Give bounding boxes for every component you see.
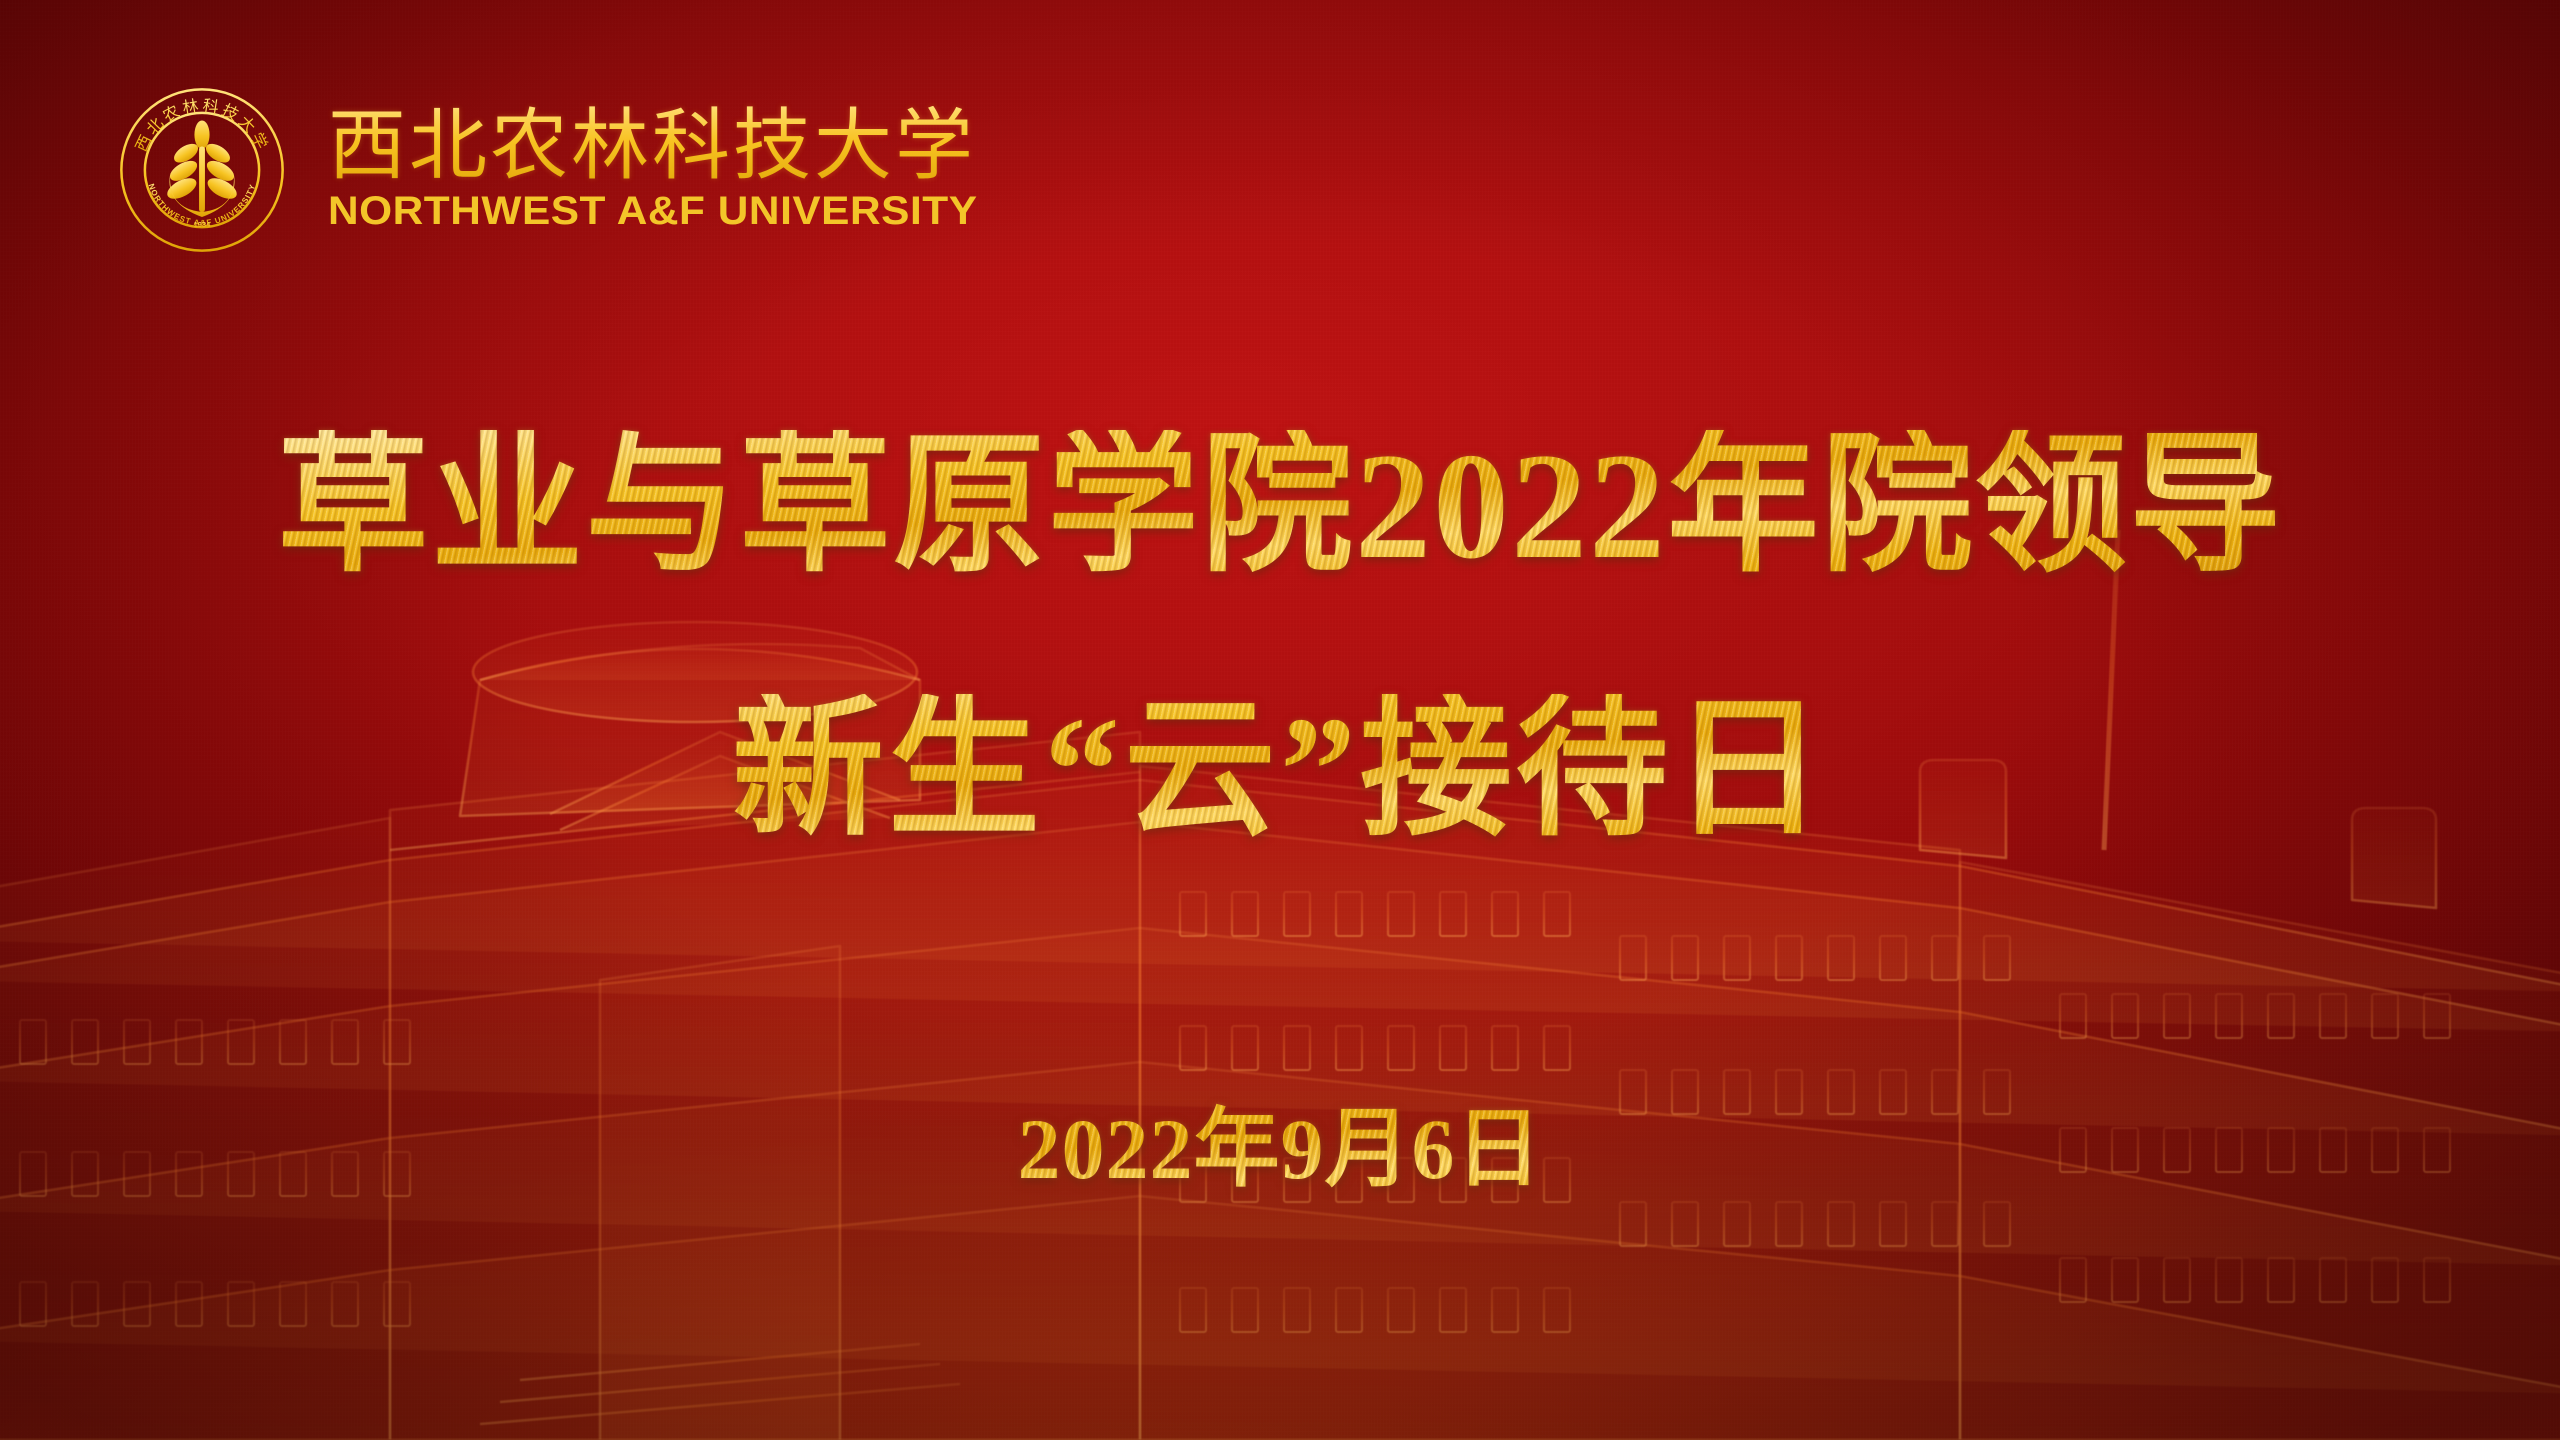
title-line-2: 新生“云”接待日 <box>0 694 2560 846</box>
university-name-en: NORTHWEST A&F UNIVERSITY <box>328 189 1015 234</box>
title-block: 草业与草原学院2022年院领导 新生“云”接待日 <box>0 430 2560 846</box>
svg-text:1934: 1934 <box>194 220 212 229</box>
university-name-block: 西北农林科技大学 NORTHWEST A&F UNIVERSITY <box>328 106 976 235</box>
university-seal-icon: 西北农林科技大学 NORTHWEST A&F UNIVERSITY 1934 <box>118 86 286 254</box>
university-name-cn: 西北农林科技大学 <box>328 106 976 186</box>
university-logo: 西北农林科技大学 NORTHWEST A&F UNIVERSITY 1934 <box>118 86 976 254</box>
poster-slide: 西北农林科技大学 NORTHWEST A&F UNIVERSITY 1934 <box>0 0 2560 1440</box>
event-date: 2022年9月6日 <box>0 1078 2560 1203</box>
title-line-1: 草业与草原学院2022年院领导 <box>0 430 2560 582</box>
